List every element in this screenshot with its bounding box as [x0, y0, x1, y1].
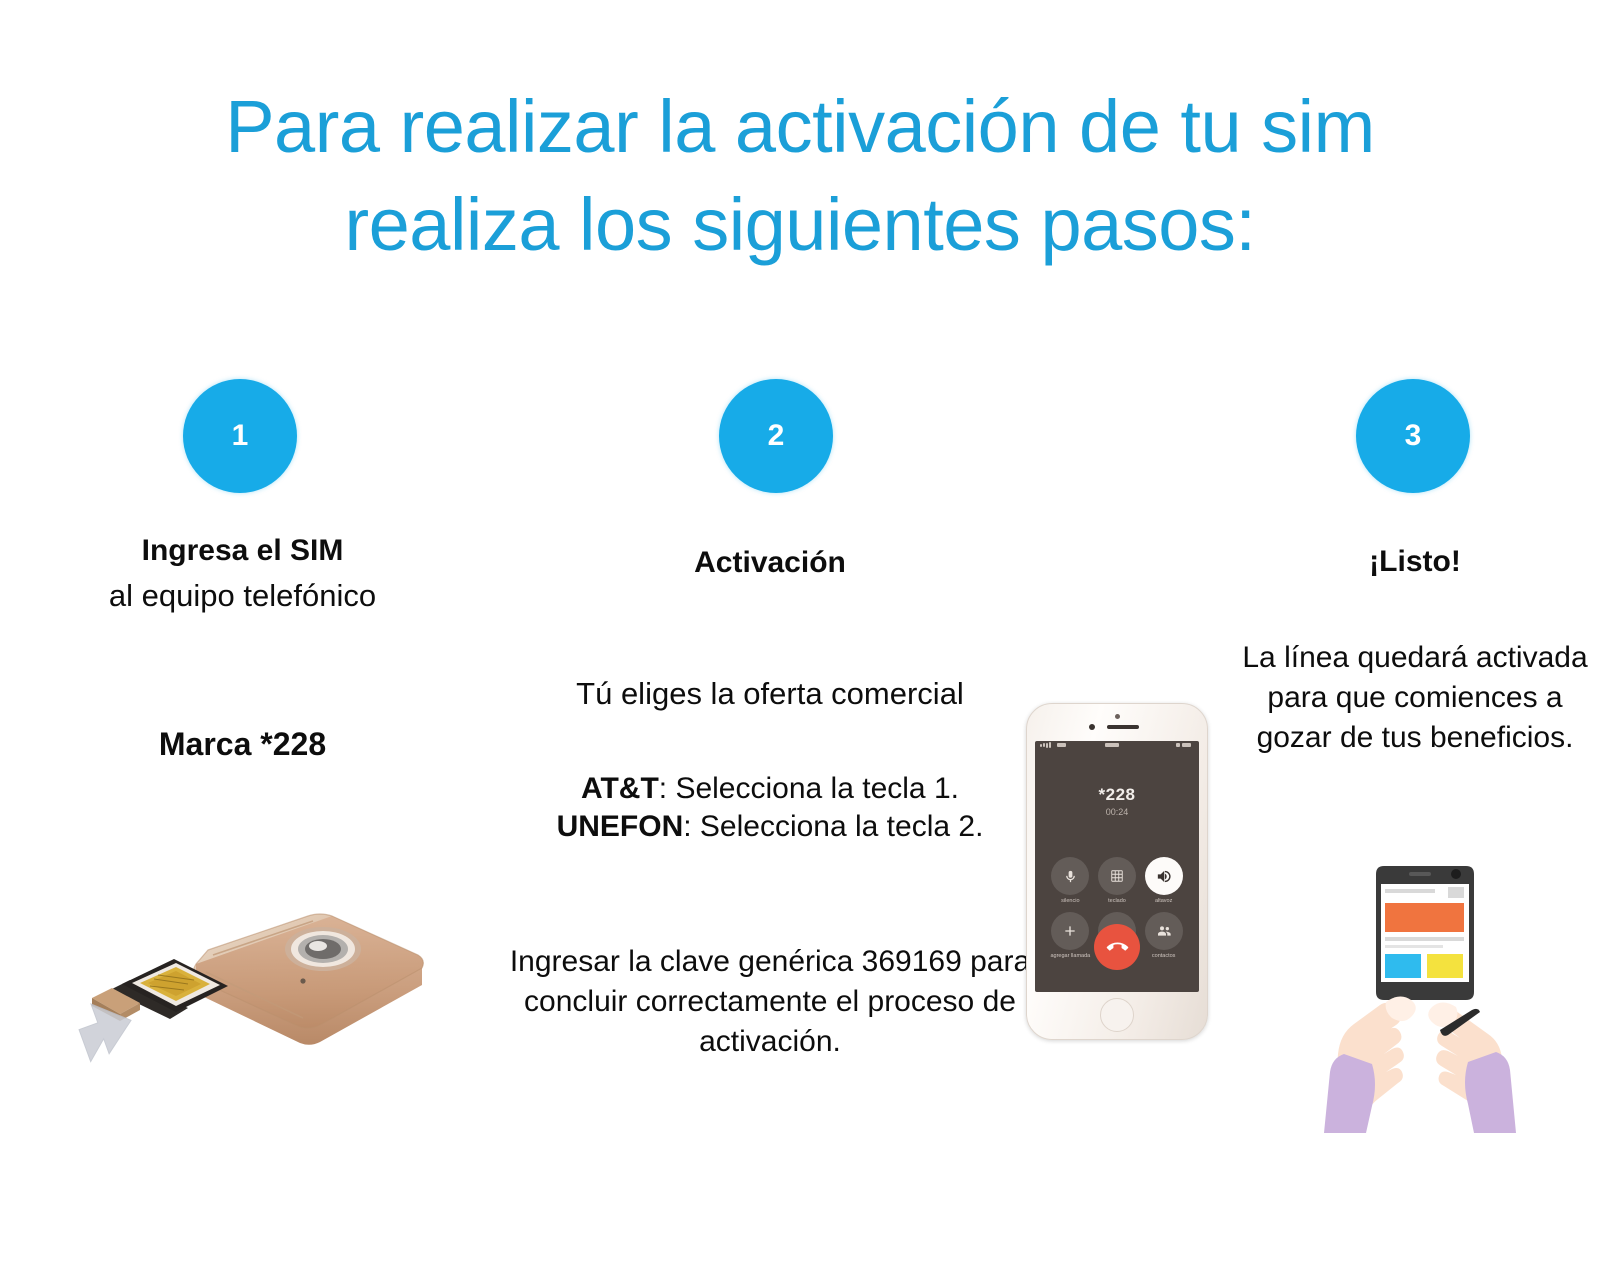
phone-screen: *228 00:24 silencio teclado altavoz: [1035, 741, 1199, 992]
home-button[interactable]: [1100, 998, 1134, 1032]
step-3-body: La línea quedará activada para que comie…: [1232, 638, 1598, 758]
iphone-call-screen-illustration: *228 00:24 silencio teclado altavoz: [1026, 703, 1208, 1040]
call-timer: 00:24: [1035, 807, 1199, 817]
dialed-number: *228: [1035, 785, 1199, 805]
mute-button[interactable]: silencio: [1051, 857, 1089, 895]
contacts-icon: [1156, 923, 1172, 939]
step-badge-1: 1: [183, 379, 297, 493]
contacts-button[interactable]: contactos: [1145, 912, 1183, 950]
step-1-action: Marca *228: [35, 726, 450, 763]
speaker-icon: [1155, 868, 1172, 885]
status-bar: [1035, 741, 1199, 750]
right-sleeve: [1465, 1052, 1516, 1133]
step-number-1: 1: [232, 419, 249, 453]
carrier-name-unefon: UNEFON: [557, 810, 684, 843]
keypad-button-label: teclado: [1108, 898, 1126, 904]
right-hand: [1428, 1003, 1516, 1134]
screen-yellow-card: [1427, 954, 1463, 978]
microphone-hole: [300, 978, 305, 983]
left-sleeve: [1324, 1054, 1375, 1133]
step-1-subheading: al equipo telefónico: [35, 578, 450, 614]
keypad-button[interactable]: teclado: [1098, 857, 1136, 895]
step-2-note: Ingresar la clave genérica 369169 para c…: [505, 942, 1035, 1062]
screen-blue-card: [1385, 954, 1421, 978]
speaker-button[interactable]: altavoz: [1145, 857, 1183, 895]
page-title: Para realizar la activación de tu sim re…: [0, 78, 1600, 275]
hands-holding-phone-illustration: [1280, 858, 1550, 1133]
camera-lens-icon: [285, 927, 361, 971]
plus-icon: [1062, 923, 1078, 939]
left-hand: [1324, 996, 1416, 1133]
page-title-line-1: Para realizar la activación de tu sim: [0, 78, 1600, 176]
step-2-heading: Activación: [520, 546, 1020, 580]
proximity-sensor-icon: [1115, 714, 1120, 719]
keypad-icon: [1110, 869, 1124, 883]
step-1-heading: Ingresa el SIM: [35, 533, 450, 568]
front-camera-icon: [1089, 724, 1095, 730]
step-2-intro: Tú eliges la oferta comercial: [500, 676, 1040, 712]
carrier-name-att: AT&T: [581, 772, 659, 805]
mute-button-label: silencio: [1061, 898, 1079, 904]
step-badge-3: 3: [1356, 379, 1470, 493]
end-call-icon: [1102, 932, 1132, 962]
infographic-canvas: Para realizar la activación de tu sim re…: [0, 0, 1600, 1280]
step-3-heading: ¡Listo!: [1240, 545, 1590, 579]
speaker-button-label: altavoz: [1155, 898, 1172, 904]
microphone-icon: [1063, 869, 1078, 884]
smartphone-graphic: [1376, 866, 1474, 1000]
contacts-button-label: contactos: [1152, 953, 1176, 959]
step-badge-2: 2: [719, 379, 833, 493]
add-call-button[interactable]: agregar llamada: [1051, 912, 1089, 950]
step-number-2: 2: [768, 419, 785, 453]
step-2-option-att: AT&T: Selecciona la tecla 1.: [500, 770, 1040, 808]
step-2-option-unefon: UNEFON: Selecciona la tecla 2.: [500, 808, 1040, 846]
carrier-instruction-att: : Selecciona la tecla 1.: [659, 772, 959, 805]
end-call-button[interactable]: [1094, 924, 1140, 970]
add-call-button-label: agregar llamada: [1050, 953, 1090, 959]
screen-thumbnail: [1448, 887, 1464, 898]
earpiece-speaker-icon: [1107, 725, 1139, 729]
step-number-3: 3: [1405, 419, 1422, 453]
screen-text-line: [1385, 889, 1435, 893]
page-title-line-2: realiza los siguientes pasos:: [0, 176, 1600, 274]
screen-orange-banner: [1385, 903, 1464, 932]
sim-tray-phone-illustration: [70, 880, 430, 1075]
carrier-instruction-unefon: : Selecciona la tecla 2.: [683, 810, 983, 843]
